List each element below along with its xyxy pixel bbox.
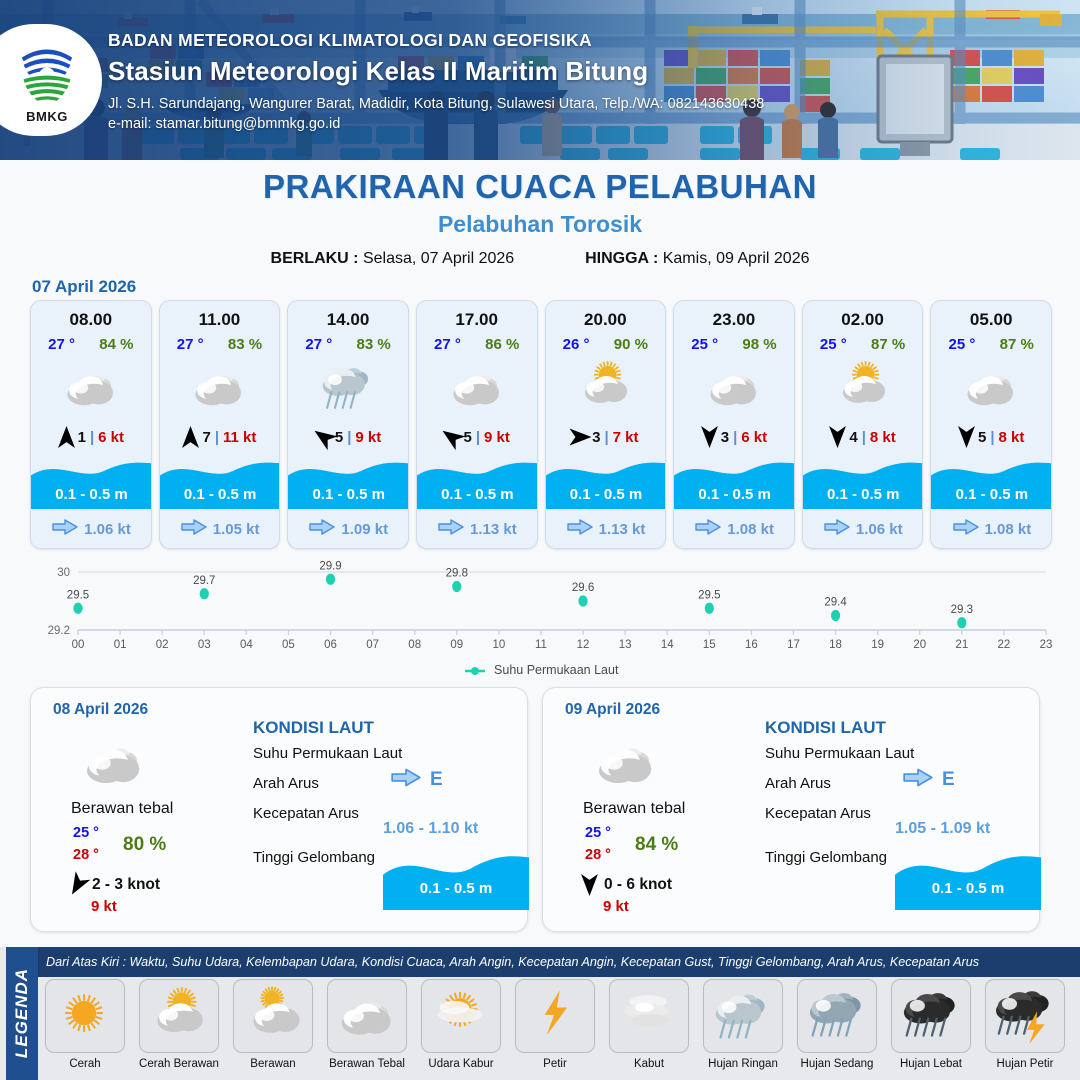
- panel-label-sst: Suhu Permukaan Laut: [765, 745, 914, 762]
- svg-text:29.8: 29.8: [446, 568, 468, 580]
- wind-separator: |: [990, 429, 994, 446]
- legend-items-row: Cerah Cerah Berawan Berawan: [40, 979, 1076, 1071]
- card-gust: 9 kt: [484, 429, 510, 446]
- legend-item: Petir: [510, 979, 600, 1071]
- station-email: e-mail: stamar.bitung@bmmkg.go.id: [108, 116, 764, 132]
- station-address: Jl. S.H. Sarundajang, Wangurer Barat, Ma…: [108, 96, 764, 112]
- svg-text:01: 01: [114, 639, 127, 651]
- wind-direction-arrow-icon: [701, 426, 718, 448]
- card-weather-icon: [288, 357, 408, 415]
- sst-chart-svg: 3029.20001020304050607080910111213141516…: [30, 558, 1052, 658]
- card-current-speed: 1.05 kt: [213, 521, 260, 538]
- svg-text:03: 03: [198, 639, 211, 651]
- legend-item-label: Cerah: [69, 1058, 100, 1071]
- svg-text:13: 13: [619, 639, 632, 651]
- svg-text:22: 22: [998, 639, 1011, 651]
- forecast-day-label: 07 April 2026: [32, 277, 136, 297]
- card-weather-icon: [674, 357, 794, 415]
- panel-gust: 9 kt: [91, 898, 117, 915]
- panel-label-sst: Suhu Permukaan Laut: [253, 745, 402, 762]
- panel-humidity: 80 %: [123, 834, 166, 856]
- legend-vertical-bar: LEGENDA: [6, 947, 38, 1080]
- card-weather-icon: [31, 357, 151, 415]
- card-gust: 6 kt: [741, 429, 767, 446]
- legend-item-label: Kabut: [634, 1058, 664, 1071]
- legend-icon-box: [515, 979, 595, 1053]
- valid-from-value: Selasa, 07 April 2026: [363, 250, 514, 267]
- svg-text:02: 02: [156, 639, 169, 651]
- current-arrow-icon: [309, 519, 335, 540]
- card-wind-row: 3 | 6 kt: [674, 424, 794, 450]
- card-current-row: 1.08 kt: [674, 519, 795, 540]
- card-wind-row: 7 | 11 kt: [160, 424, 280, 450]
- card-wind-row: 5 | 8 kt: [931, 424, 1051, 450]
- legend-item-label: Hujan Lebat: [900, 1058, 962, 1071]
- card-wind-row: 5 | 9 kt: [417, 424, 537, 450]
- legend-icon-box: [327, 979, 407, 1053]
- hujan-lebat-icon: [902, 985, 960, 1048]
- bmkg-logo-text: BMKG: [26, 109, 68, 124]
- legend-item: Cerah Berawan: [134, 979, 224, 1071]
- panel-wind-row: 2 - 3 knot: [69, 874, 160, 896]
- legend-item: Berawan: [228, 979, 318, 1071]
- panel-wind-arrow-icon: [581, 874, 598, 896]
- legend-icon-box: [609, 979, 689, 1053]
- card-humidity: 90 %: [614, 336, 648, 353]
- card-current-speed: 1.08 kt: [727, 521, 774, 538]
- legend-item: Kabut: [604, 979, 694, 1071]
- svg-text:04: 04: [240, 639, 253, 651]
- card-weather-icon: [417, 357, 537, 415]
- svg-text:29.7: 29.7: [193, 575, 215, 587]
- current-arrow-icon: [567, 519, 593, 540]
- legend-item-label: Hujan Sedang: [801, 1058, 874, 1071]
- chart-legend-label: Suhu Permukaan Laut: [494, 663, 618, 677]
- panel-condition: Berawan tebal: [583, 800, 685, 818]
- cerah-icon: [56, 985, 114, 1048]
- page-title-block: PRAKIRAAN CUACA PELABUHAN Pelabuhan Toro…: [0, 168, 1080, 238]
- svg-text:18: 18: [829, 639, 842, 651]
- legend-item: Cerah: [40, 979, 130, 1071]
- panel-temp-min: 25 °: [585, 825, 611, 841]
- legend-note: Dari Atas Kiri : Waktu, Suhu Udara, Kele…: [38, 947, 1080, 977]
- wind-direction-arrow-icon: [958, 426, 975, 448]
- legend-icon-box: [421, 979, 501, 1053]
- card-gust: 9 kt: [355, 429, 381, 446]
- card-gust: 6 kt: [98, 429, 124, 446]
- card-time: 11.00: [160, 310, 280, 330]
- header-text-block: BADAN METEOROLOGI KLIMATOLOGI DAN GEOFIS…: [108, 30, 764, 132]
- svg-text:30: 30: [57, 567, 70, 579]
- card-wave-height: 0.1 - 0.5 m: [674, 486, 795, 503]
- svg-text:21: 21: [955, 639, 968, 651]
- card-wind-speed: 3: [592, 429, 600, 446]
- legend-item-label: Cerah Berawan: [139, 1058, 219, 1071]
- card-humidity: 83 %: [357, 336, 391, 353]
- card-wind-row: 5 | 9 kt: [288, 424, 408, 450]
- legend-item-label: Berawan: [250, 1058, 295, 1071]
- svg-text:19: 19: [871, 639, 884, 651]
- legend-vertical-label: LEGENDA: [12, 955, 32, 1071]
- legend-item-label: Udara Kabur: [428, 1058, 493, 1071]
- svg-text:07: 07: [366, 639, 379, 651]
- card-wind-row: 1 | 6 kt: [31, 424, 151, 450]
- svg-text:08: 08: [408, 639, 421, 651]
- wind-direction-arrow-icon: [572, 426, 589, 448]
- card-gust: 7 kt: [613, 429, 639, 446]
- card-current-row: 1.13 kt: [546, 519, 667, 540]
- svg-text:20: 20: [913, 639, 926, 651]
- card-humidity: 86 %: [485, 336, 519, 353]
- card-current-row: 1.06 kt: [31, 519, 152, 540]
- svg-text:29.9: 29.9: [319, 560, 341, 572]
- legend-section: LEGENDA Dari Atas Kiri : Waktu, Suhu Uda…: [0, 947, 1080, 1080]
- card-time: 02.00: [803, 310, 923, 330]
- wind-separator: |: [90, 429, 94, 446]
- card-wind-speed: 5: [978, 429, 986, 446]
- hourly-forecast-row: 08.00 27 ° 84 % 1 |: [30, 300, 1052, 549]
- card-wind-row: 4 | 8 kt: [803, 424, 923, 450]
- agency-name: BADAN METEOROLOGI KLIMATOLOGI DAN GEOFIS…: [108, 30, 764, 51]
- wind-direction-arrow-icon: [829, 426, 846, 448]
- svg-text:06: 06: [324, 639, 337, 651]
- card-temperature: 27 °: [434, 336, 461, 353]
- daily-summary-panel: 08 April 2026 Berawan tebal 25 ° 28 ° 80…: [30, 687, 528, 932]
- legend-item: Udara Kabur: [416, 979, 506, 1071]
- panel-label-current-dir: Arah Arus: [253, 775, 319, 792]
- panel-current-direction: E: [942, 769, 955, 791]
- panel-current-direction: E: [430, 769, 443, 791]
- berawan-icon: [244, 985, 302, 1048]
- card-current-speed: 1.06 kt: [856, 521, 903, 538]
- svg-text:14: 14: [661, 639, 674, 651]
- svg-text:09: 09: [450, 639, 463, 651]
- svg-text:15: 15: [703, 639, 716, 651]
- legend-icon-box: [985, 979, 1065, 1053]
- card-current-speed: 1.06 kt: [84, 521, 131, 538]
- daily-summary-panel: 09 April 2026 Berawan tebal 25 ° 28 ° 84…: [542, 687, 1040, 932]
- validity-row: BERLAKU : Selasa, 07 April 2026 HINGGA :…: [0, 250, 1080, 268]
- card-time: 08.00: [31, 310, 151, 330]
- wind-direction-arrow-icon: [58, 426, 75, 448]
- port-name: Pelabuhan Torosik: [0, 211, 1080, 238]
- hujan-sedang-icon: [808, 985, 866, 1048]
- forecast-card: 20.00 26 ° 90 % 3 | 7 kt 0.1: [545, 300, 667, 549]
- card-wave-height: 0.1 - 0.5 m: [417, 486, 538, 503]
- panel-weather-icon: [595, 730, 657, 797]
- card-current-row: 1.09 kt: [288, 519, 409, 540]
- legend-item: Hujan Ringan: [698, 979, 788, 1071]
- card-time: 17.00: [417, 310, 537, 330]
- wind-separator: |: [215, 429, 219, 446]
- panel-temp-max: 28 °: [585, 847, 611, 863]
- panel-sea-title: KONDISI LAUT: [765, 718, 886, 738]
- page-title: PRAKIRAAN CUACA PELABUHAN: [0, 168, 1080, 206]
- panel-wind-speed: 0 - 6 knot: [604, 876, 672, 894]
- card-wind-row: 3 | 7 kt: [546, 424, 666, 450]
- chart-legend-marker: [464, 665, 486, 677]
- current-arrow-icon: [52, 519, 78, 540]
- wind-separator: |: [347, 429, 351, 446]
- card-time: 14.00: [288, 310, 408, 330]
- legend-icon-box: [703, 979, 783, 1053]
- wind-separator: |: [862, 429, 866, 446]
- svg-text:29.2: 29.2: [48, 625, 70, 637]
- card-wind-speed: 1: [78, 429, 86, 446]
- panel-wind-speed: 2 - 3 knot: [92, 876, 160, 894]
- panel-label-current-speed: Kecepatan Arus: [253, 805, 359, 822]
- card-weather-icon: [546, 357, 666, 415]
- panel-wave-height: 0.1 - 0.5 m: [895, 880, 1041, 897]
- card-temperature: 25 °: [691, 336, 718, 353]
- card-current-speed: 1.09 kt: [341, 521, 388, 538]
- card-time: 05.00: [931, 310, 1051, 330]
- card-humidity: 98 %: [742, 336, 776, 353]
- card-humidity: 87 %: [871, 336, 905, 353]
- card-weather-icon: [931, 357, 1051, 415]
- panel-temp-max: 28 °: [73, 847, 99, 863]
- panel-current-direction-row: E: [903, 768, 955, 792]
- panel-sea-title: KONDISI LAUT: [253, 718, 374, 738]
- wind-separator: |: [604, 429, 608, 446]
- current-arrow-icon: [181, 519, 207, 540]
- forecast-card: 02.00 25 ° 87 % 4 | 8 kt 0.1: [802, 300, 924, 549]
- card-current-row: 1.06 kt: [803, 519, 924, 540]
- legend-icon-box: [891, 979, 971, 1053]
- panel-label-current-speed: Kecepatan Arus: [765, 805, 871, 822]
- berawan-tebal-icon: [338, 985, 396, 1048]
- card-temperature: 27 °: [177, 336, 204, 353]
- card-gust: 8 kt: [870, 429, 896, 446]
- panel-date: 08 April 2026: [53, 701, 148, 719]
- forecast-card: 23.00 25 ° 98 % 3 |: [673, 300, 795, 549]
- panel-temp-min: 25 °: [73, 825, 99, 841]
- card-temperature: 27 °: [48, 336, 75, 353]
- panel-current-direction-row: E: [391, 768, 443, 792]
- panel-current-speed: 1.06 - 1.10 kt: [383, 820, 478, 838]
- card-wave-height: 0.1 - 0.5 m: [803, 486, 924, 503]
- valid-from-label: BERLAKU :: [271, 250, 359, 267]
- bmkg-emblem-icon: [11, 36, 83, 108]
- panel-label-wave: Tinggi Gelombang: [765, 849, 887, 866]
- card-current-row: 1.05 kt: [160, 519, 281, 540]
- svg-text:12: 12: [577, 639, 590, 651]
- card-wave-height: 0.1 - 0.5 m: [546, 486, 667, 503]
- legend-item-label: Hujan Petir: [997, 1058, 1054, 1071]
- petir-icon: [526, 985, 584, 1048]
- panel-wind-arrow-icon: [69, 874, 86, 896]
- card-gust: 8 kt: [999, 429, 1025, 446]
- svg-text:17: 17: [787, 639, 800, 651]
- card-current-row: 1.13 kt: [417, 519, 538, 540]
- wind-separator: |: [476, 429, 480, 446]
- card-wave-height: 0.1 - 0.5 m: [288, 486, 409, 503]
- forecast-card: 17.00 27 ° 86 % 5 |: [416, 300, 538, 549]
- card-wave-height: 0.1 - 0.5 m: [931, 486, 1052, 503]
- panel-weather-icon: [83, 730, 145, 797]
- card-wave-height: 0.1 - 0.5 m: [160, 486, 281, 503]
- panel-wave-height: 0.1 - 0.5 m: [383, 880, 529, 897]
- current-arrow-icon: [824, 519, 850, 540]
- sst-chart: 3029.20001020304050607080910111213141516…: [30, 558, 1052, 683]
- cerah-berawan-icon: [150, 985, 208, 1048]
- card-weather-icon: [160, 357, 280, 415]
- daily-summary-row: 08 April 2026 Berawan tebal 25 ° 28 ° 80…: [30, 687, 1052, 932]
- card-humidity: 83 %: [228, 336, 262, 353]
- card-time: 23.00: [674, 310, 794, 330]
- legend-item: Hujan Lebat: [886, 979, 976, 1071]
- legend-item-label: Petir: [543, 1058, 567, 1071]
- station-name: Stasiun Meteorologi Kelas II Maritim Bit…: [108, 56, 764, 87]
- panel-condition: Berawan tebal: [71, 800, 173, 818]
- card-temperature: 25 °: [949, 336, 976, 353]
- wind-direction-arrow-icon: [443, 426, 460, 448]
- legend-item-label: Berawan Tebal: [329, 1058, 405, 1071]
- forecast-card: 08.00 27 ° 84 % 1 |: [30, 300, 152, 549]
- forecast-card: 05.00 25 ° 87 % 5 |: [930, 300, 1052, 549]
- panel-current-speed: 1.05 - 1.09 kt: [895, 820, 990, 838]
- card-humidity: 84 %: [99, 336, 133, 353]
- card-time: 20.00: [546, 310, 666, 330]
- card-wind-speed: 4: [849, 429, 857, 446]
- legend-item: Hujan Petir: [980, 979, 1070, 1071]
- panel-wind-row: 0 - 6 knot: [581, 874, 672, 896]
- card-current-row: 1.08 kt: [931, 519, 1052, 540]
- svg-text:29.3: 29.3: [951, 604, 973, 616]
- current-arrow-icon: [695, 519, 721, 540]
- current-arrow-icon: [391, 768, 421, 792]
- legend-icon-box: [233, 979, 313, 1053]
- kabut-icon: [620, 985, 678, 1048]
- svg-text:29.5: 29.5: [698, 589, 720, 601]
- legend-icon-box: [45, 979, 125, 1053]
- panel-label-current-dir: Arah Arus: [765, 775, 831, 792]
- card-wave-height: 0.1 - 0.5 m: [31, 486, 152, 503]
- wind-direction-arrow-icon: [182, 426, 199, 448]
- current-arrow-icon: [438, 519, 464, 540]
- card-humidity: 87 %: [1000, 336, 1034, 353]
- card-temperature: 26 °: [563, 336, 590, 353]
- card-current-speed: 1.08 kt: [985, 521, 1032, 538]
- legend-item-label: Hujan Ringan: [708, 1058, 778, 1071]
- legend-item: Berawan Tebal: [322, 979, 412, 1071]
- hujan-ringan-icon: [714, 985, 772, 1048]
- card-wind-speed: 3: [721, 429, 729, 446]
- panel-date: 09 April 2026: [565, 701, 660, 719]
- legend-item: Hujan Sedang: [792, 979, 882, 1071]
- current-arrow-icon: [903, 768, 933, 792]
- current-arrow-icon: [953, 519, 979, 540]
- svg-text:29.6: 29.6: [572, 582, 594, 594]
- chart-legend: Suhu Permukaan Laut: [30, 663, 1052, 677]
- svg-text:16: 16: [745, 639, 758, 651]
- forecast-card: 11.00 27 ° 83 % 7 |: [159, 300, 281, 549]
- card-gust: 11 kt: [223, 429, 256, 446]
- svg-text:00: 00: [72, 639, 85, 651]
- svg-text:29.5: 29.5: [67, 589, 89, 601]
- wind-direction-arrow-icon: [315, 426, 332, 448]
- svg-text:10: 10: [492, 639, 505, 651]
- card-temperature: 27 °: [305, 336, 332, 353]
- card-weather-icon: [803, 357, 923, 415]
- legend-icon-box: [797, 979, 877, 1053]
- svg-text:29.4: 29.4: [824, 597, 847, 609]
- forecast-card: 14.00 27 ° 83 % 5 |: [287, 300, 409, 549]
- udara-kabur-icon: [432, 985, 490, 1048]
- card-temperature: 25 °: [820, 336, 847, 353]
- wind-separator: |: [733, 429, 737, 446]
- valid-until-label: HINGGA :: [585, 250, 658, 267]
- valid-until-value: Kamis, 09 April 2026: [663, 250, 810, 267]
- hujan-petir-icon: [996, 985, 1054, 1048]
- legend-icon-box: [139, 979, 219, 1053]
- panel-label-wave: Tinggi Gelombang: [253, 849, 375, 866]
- svg-text:11: 11: [535, 639, 547, 651]
- card-current-speed: 1.13 kt: [599, 521, 646, 538]
- card-current-speed: 1.13 kt: [470, 521, 517, 538]
- svg-text:05: 05: [282, 639, 295, 651]
- page-header: BMKG BADAN METEOROLOGI KLIMATOLOGI DAN G…: [0, 0, 1080, 160]
- card-wind-speed: 7: [202, 429, 210, 446]
- panel-gust: 9 kt: [603, 898, 629, 915]
- panel-humidity: 84 %: [635, 834, 678, 856]
- svg-text:23: 23: [1040, 639, 1052, 651]
